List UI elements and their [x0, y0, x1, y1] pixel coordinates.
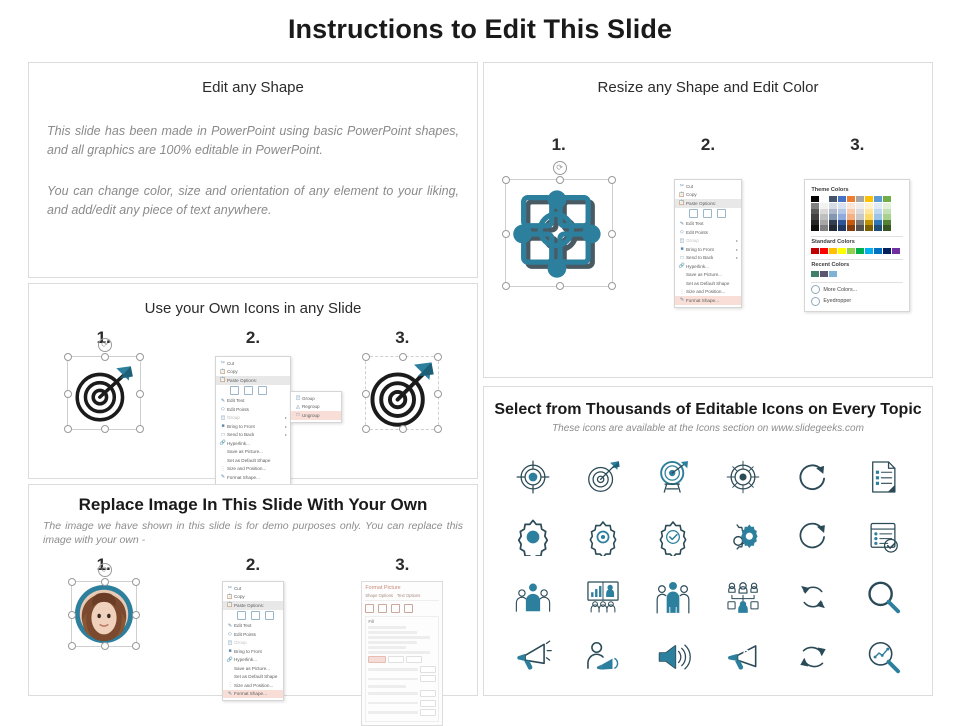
menu-item-save-as-picture[interactable]: Save as Picture...	[675, 271, 741, 280]
menu-item-format-shape[interactable]: ✎Format Shape...	[216, 473, 290, 482]
resize-handle[interactable]	[136, 353, 144, 361]
menu-item-save-as-picture[interactable]: Save as Picture...	[223, 664, 283, 673]
resize-handle[interactable]	[136, 425, 144, 433]
resize-handle[interactable]	[132, 578, 140, 586]
resize-handle[interactable]	[608, 176, 616, 184]
send-back-icon: □	[219, 432, 227, 438]
pane-field-row[interactable]	[368, 675, 436, 682]
color-swatch[interactable]	[883, 248, 891, 254]
icon-cell[interactable]	[568, 567, 638, 627]
resize-handle[interactable]	[434, 390, 442, 398]
resize-handle[interactable]	[608, 282, 616, 290]
pane-field-row[interactable]	[368, 709, 436, 716]
color-swatch-column[interactable]	[811, 203, 819, 231]
scissors-icon: ✂	[219, 360, 227, 366]
sync-arrows-icon	[794, 578, 832, 616]
color-swatch[interactable]	[811, 248, 819, 254]
menu-item-set-default-shape[interactable]: Set as Default Shape	[675, 279, 741, 288]
ungroup-icon: □	[294, 412, 302, 418]
bring-front-icon: ■	[219, 423, 227, 429]
edit-points-icon: ◇	[219, 406, 227, 412]
color-palette-popup[interactable]: Theme Colors Standard Colors Recent Colo…	[804, 179, 910, 312]
edit-points-icon: ◇	[226, 631, 234, 637]
color-swatch[interactable]	[865, 248, 873, 254]
color-swatch[interactable]	[874, 196, 882, 202]
recent-colors-row[interactable]	[811, 271, 903, 277]
resize-handle[interactable]	[64, 353, 72, 361]
color-swatch[interactable]	[829, 225, 837, 231]
copy-icon: 📋	[226, 594, 234, 600]
resize-handle[interactable]	[101, 578, 109, 586]
rotate-handle[interactable]: ⟳	[98, 563, 112, 577]
picture-icon[interactable]	[404, 604, 413, 613]
paste-picture-icon[interactable]	[251, 611, 260, 620]
pane-row	[368, 651, 429, 654]
menu-item-edit-points[interactable]: ◇Edit Points	[216, 405, 290, 414]
panel-title-replace-image: Replace Image In This Slide With Your Ow…	[29, 495, 477, 515]
paste-icon: 📋	[678, 200, 686, 206]
menu-item-hyperlink[interactable]: 🔗Hyperlink...	[223, 656, 283, 665]
group-icon: ◫	[226, 640, 234, 646]
color-swatch[interactable]	[811, 271, 819, 277]
menu-item-hyperlink[interactable]: 🔗Hyperlink...	[675, 262, 741, 271]
menu-item-format-picture[interactable]: ✎Format Shape...	[223, 690, 283, 699]
icon-cell[interactable]	[778, 507, 848, 567]
circular-arrow-icon	[794, 518, 832, 556]
copy-icon: 📋	[219, 369, 227, 375]
menu-item-paste-options[interactable]: 📋Paste Options:	[675, 199, 741, 208]
menu-item-paste-options[interactable]: 📋Paste Options:	[223, 601, 283, 610]
paste-keep-format-icon[interactable]	[689, 209, 698, 218]
resize-shape-step-numbers: 1. 2. 3.	[484, 135, 932, 155]
size-icon: ⋮	[678, 289, 686, 295]
menu-item-cut[interactable]: ✂Cut	[216, 359, 290, 368]
gear-filled-icon	[514, 518, 552, 556]
resize-handle[interactable]	[362, 425, 370, 433]
refresh-clockwise-icon	[794, 458, 832, 496]
format-icon: ✎	[678, 297, 686, 303]
pane-field-row[interactable]	[368, 666, 436, 673]
chevron-right-icon: ▸	[285, 424, 287, 429]
group-icon: ◫	[294, 395, 302, 401]
panel-title-edit-shape: Edit any Shape	[29, 79, 477, 96]
resize-handle[interactable]	[68, 642, 76, 650]
resize-handle[interactable]	[556, 176, 564, 184]
menu-item-edit-text[interactable]: ✎Edit Text	[216, 397, 290, 406]
selection-frame	[365, 356, 439, 430]
format-pane-section-label: Fill	[368, 619, 436, 624]
icon-cell[interactable]	[498, 507, 568, 567]
palette-icon	[811, 285, 820, 294]
page-title: Instructions to Edit This Slide	[0, 14, 960, 45]
pane-field-row[interactable]	[368, 700, 436, 707]
color-swatch[interactable]	[874, 225, 882, 231]
color-swatch[interactable]	[829, 248, 837, 254]
theme-colors-row[interactable]	[811, 196, 903, 202]
icon-cell[interactable]	[778, 447, 848, 507]
org-chart-team-icon	[724, 578, 762, 616]
rotate-handle[interactable]: ⟳	[553, 161, 567, 175]
circular-sync-icon	[794, 638, 832, 676]
menu-item-set-default-shape[interactable]: Set as Default Shape	[223, 673, 283, 682]
panel-edit-any-shape: Edit any Shape This slide has been made …	[28, 62, 478, 278]
paste-picture-icon[interactable]	[703, 209, 712, 218]
color-swatch-column[interactable]	[847, 203, 855, 231]
pane-row	[368, 646, 405, 649]
color-swatch[interactable]	[883, 225, 891, 231]
color-swatch-column[interactable]	[820, 203, 828, 231]
megaphone-icon	[514, 638, 552, 676]
resize-handle[interactable]	[502, 230, 510, 238]
color-swatch-column[interactable]	[874, 203, 882, 231]
resize-handle[interactable]	[502, 282, 510, 290]
menu-item-edit-points[interactable]: ◇Edit Points	[675, 228, 741, 237]
edit-points-icon: ◇	[678, 229, 686, 235]
color-swatch[interactable]	[838, 248, 846, 254]
color-swatch[interactable]	[820, 248, 828, 254]
color-swatch-column[interactable]	[856, 203, 864, 231]
menu-item-edit-text[interactable]: ✎Edit Text	[223, 622, 283, 631]
menu-item-cut[interactable]: ✂Cut	[675, 182, 741, 191]
resize-handle[interactable]	[556, 282, 564, 290]
step-number: 2.	[178, 328, 327, 348]
menu-item-format-shape[interactable]: ✎Format Shape...	[675, 296, 741, 305]
gear-check-icon	[654, 518, 692, 556]
edit-text-icon: ✎	[678, 221, 686, 227]
menu-item-size-position[interactable]: ⋮Size and Position...	[223, 681, 283, 690]
color-swatch[interactable]	[847, 196, 855, 202]
more-colors-button[interactable]: More Colors...	[811, 285, 903, 294]
format-icon: ✎	[219, 474, 227, 480]
icon-cell[interactable]	[708, 507, 778, 567]
menu-item-copy[interactable]: 📋Copy	[675, 191, 741, 200]
panel-resize-shape: Resize any Shape and Edit Color 1. 2. 3.…	[483, 62, 933, 378]
shape-context-menu[interactable]: ✂Cut 📋Copy 📋Paste Options: ✎Edit Text ◇E…	[674, 179, 742, 308]
color-dropdown[interactable]	[406, 656, 422, 663]
crosshair-target-icon	[514, 458, 552, 496]
screenshot-selected-portrait: ⟳	[29, 581, 178, 647]
pane-field-row[interactable]	[368, 690, 436, 697]
resize-handle[interactable]	[608, 230, 616, 238]
step-number: 3.	[783, 135, 932, 155]
icon-cell[interactable]	[708, 567, 778, 627]
slide-canvas: Instructions to Edit This Slide Edit any…	[0, 0, 960, 720]
icon-cell[interactable]	[708, 447, 778, 507]
menu-item-size-position[interactable]: ⋮Size and Position...	[216, 465, 290, 474]
bring-front-icon: ■	[226, 648, 234, 654]
menu-item-paste-options[interactable]: 📋Paste Options:	[216, 376, 290, 385]
icon-cell[interactable]	[568, 507, 638, 567]
theme-colors-tints[interactable]	[811, 203, 903, 231]
screenshot-selected-icon: ⟳	[29, 356, 178, 430]
format-pane-title: Format Picture	[365, 585, 439, 591]
submenu-item-regroup[interactable]: ◬Regroup	[291, 403, 341, 412]
color-dropdown[interactable]	[388, 656, 404, 663]
fill-icon[interactable]	[365, 604, 374, 613]
group-icon: ◫	[219, 415, 227, 421]
resize-handle[interactable]	[399, 425, 407, 433]
menu-item-copy[interactable]: 📋Copy	[216, 368, 290, 377]
own-icons-step-numbers: 1. 2. 3.	[29, 328, 477, 348]
format-icon: ✎	[226, 691, 234, 697]
color-swatch[interactable]	[838, 196, 846, 202]
resize-handle[interactable]	[132, 611, 140, 619]
selection-frame: ⟳	[67, 356, 141, 430]
paste-option-buttons[interactable]	[675, 208, 741, 220]
megaphone-percent-icon	[724, 638, 762, 676]
paste-option-buttons[interactable]	[223, 610, 283, 622]
icon-cell[interactable]	[778, 627, 848, 687]
color-swatch[interactable]	[883, 196, 891, 202]
eyedropper-button[interactable]: Eyedropper	[811, 297, 903, 306]
resize-shape-screenshots: ⟳	[484, 179, 932, 312]
value-field[interactable]	[420, 700, 436, 707]
context-menu[interactable]: ✂Cut 📋Copy 📋Paste Options: ✎Edit Text ◇E…	[215, 356, 291, 485]
submenu-item-group[interactable]: ◫Group	[291, 394, 341, 403]
menu-item-cut[interactable]: ✂Cut	[223, 584, 283, 593]
group-submenu[interactable]: ◫Group ◬Regroup □Ungroup	[290, 391, 342, 423]
format-picture-pane[interactable]: Format Picture Shape Options Text Option…	[361, 581, 443, 726]
menu-item-group[interactable]: ◫Group▸	[216, 414, 290, 423]
size-icon[interactable]	[391, 604, 400, 613]
step-number: 2.	[178, 555, 327, 575]
color-swatch[interactable]	[892, 248, 900, 254]
pane-row	[368, 631, 417, 634]
paste-keep-format-icon[interactable]	[237, 611, 246, 620]
menu-item-group[interactable]: ◫Group▸	[675, 237, 741, 246]
chevron-right-icon: ▸	[285, 415, 287, 420]
speaker-sound-icon	[654, 638, 692, 676]
icon-cell[interactable]	[848, 447, 918, 507]
value-field[interactable]	[420, 675, 436, 682]
icon-cell[interactable]	[568, 627, 638, 687]
chevron-right-icon: ▸	[736, 255, 738, 260]
icon-cell[interactable]	[498, 447, 568, 507]
color-swatch[interactable]	[847, 248, 855, 254]
panel-title-editable-icons: Select from Thousands of Editable Icons …	[484, 401, 932, 419]
own-icons-screenshots: ⟳	[29, 356, 477, 485]
standard-colors-row[interactable]	[811, 248, 903, 254]
resize-handle[interactable]	[101, 642, 109, 650]
copy-icon: 📋	[678, 192, 686, 198]
paste-text-icon[interactable]	[717, 209, 726, 218]
icon-cell[interactable]	[848, 627, 918, 687]
color-swatch-column[interactable]	[883, 203, 891, 231]
size-icon: ⋮	[219, 466, 227, 472]
gear-dot-icon	[584, 518, 622, 556]
step-number: 3.	[328, 328, 477, 348]
three-people-icon	[654, 578, 692, 616]
color-swatch[interactable]	[820, 196, 828, 202]
bring-front-icon: ■	[678, 246, 686, 252]
panel-title-resize-shape: Resize any Shape and Edit Color	[484, 79, 932, 96]
format-pane-tabs[interactable]: Shape Options Text Options	[365, 593, 439, 601]
step-number: 3.	[328, 555, 477, 575]
menu-item-group[interactable]: ◫Group	[223, 639, 283, 648]
resize-handle[interactable]	[132, 642, 140, 650]
icon-cell[interactable]	[638, 627, 708, 687]
menu-item-edit-points[interactable]: ◇Edit Points	[223, 630, 283, 639]
color-swatch[interactable]	[829, 271, 837, 277]
standard-colors-header: Standard Colors	[811, 239, 903, 245]
target-stand-icon	[654, 458, 692, 496]
screenshot-picture-context-menu: ✂Cut 📋Copy 📋Paste Options: ✎Edit Text ◇E…	[178, 581, 327, 701]
menu-item-send-to-back[interactable]: □Send to Back▸	[216, 431, 290, 440]
menu-item-size-position[interactable]: ⋮Size and Position...	[675, 288, 741, 297]
icon-cell[interactable]	[638, 447, 708, 507]
color-chip[interactable]	[368, 656, 386, 663]
panel-editable-icons: Select from Thousands of Editable Icons …	[483, 386, 933, 696]
icon-cell[interactable]	[498, 627, 568, 687]
magnifier-icon	[864, 578, 902, 616]
menu-item-bring-to-front[interactable]: ■Bring to Front▸	[216, 422, 290, 431]
edit-shape-paragraph-2: You can change color, size and orientati…	[47, 182, 459, 220]
icon-cell[interactable]	[498, 567, 568, 627]
color-swatch-column[interactable]	[838, 203, 846, 231]
menu-item-edit-text[interactable]: ✎Edit Text	[675, 220, 741, 229]
pane-color-row[interactable]	[368, 656, 436, 663]
color-swatch[interactable]	[829, 196, 837, 202]
resize-handle[interactable]	[502, 176, 510, 184]
color-swatch[interactable]	[811, 225, 819, 231]
screenshot-shape-context-menu: ✂Cut 📋Copy 📋Paste Options: ✎Edit Text ◇E…	[633, 179, 782, 308]
step-number: 1.	[484, 135, 633, 155]
paste-keep-format-icon[interactable]	[230, 386, 239, 395]
paste-option-buttons[interactable]	[216, 385, 290, 397]
menu-item-bring-to-front[interactable]: ■Bring to Front	[223, 647, 283, 656]
edit-text-icon: ✎	[219, 398, 227, 404]
icon-cell[interactable]	[848, 507, 918, 567]
selection-frame: ⟳	[71, 581, 137, 647]
value-field[interactable]	[420, 666, 436, 673]
color-swatch[interactable]	[865, 196, 873, 202]
send-back-icon: □	[678, 255, 686, 261]
color-swatch[interactable]	[865, 225, 873, 231]
submenu-item-ungroup[interactable]: □Ungroup	[291, 411, 341, 420]
recent-colors-header: Recent Colors	[811, 262, 903, 268]
icon-grid	[498, 447, 918, 687]
value-field[interactable]	[420, 709, 436, 716]
replace-image-screenshots: ⟳	[29, 581, 477, 726]
color-swatch[interactable]	[820, 225, 828, 231]
pane-row	[368, 636, 429, 639]
color-swatch[interactable]	[811, 196, 819, 202]
replace-image-step-numbers: 1. 2. 3.	[29, 555, 477, 575]
chevron-right-icon: ▸	[736, 238, 738, 243]
resize-handle[interactable]	[434, 425, 442, 433]
paste-icon: 📋	[226, 602, 234, 608]
pane-row	[368, 685, 405, 688]
link-icon: 🔗	[219, 440, 227, 446]
resize-handle[interactable]	[136, 390, 144, 398]
magnifier-chart-icon	[864, 638, 902, 676]
resize-handle[interactable]	[101, 425, 109, 433]
paste-icon: 📋	[219, 377, 227, 383]
chevron-right-icon: ▸	[736, 247, 738, 252]
radar-target-icon	[724, 458, 762, 496]
color-swatch[interactable]	[838, 225, 846, 231]
paste-picture-icon[interactable]	[244, 386, 253, 395]
icon-cell[interactable]	[568, 447, 638, 507]
value-field[interactable]	[420, 690, 436, 697]
color-swatch[interactable]	[856, 225, 864, 231]
resize-handle[interactable]	[68, 611, 76, 619]
menu-item-set-default-shape[interactable]: Set as Default Shape	[216, 456, 290, 465]
icon-cell[interactable]	[848, 567, 918, 627]
color-swatch-column[interactable]	[865, 203, 873, 231]
theme-colors-header: Theme Colors	[811, 187, 903, 193]
color-swatch[interactable]	[856, 248, 864, 254]
panel-replace-image: Replace Image In This Slide With Your Ow…	[28, 484, 478, 696]
menu-item-save-as-picture[interactable]: Save as Picture...	[216, 448, 290, 457]
editable-icons-subtitle: These icons are available at the Icons s…	[484, 423, 932, 434]
chevron-right-icon: ▸	[285, 432, 287, 437]
edit-text-icon: ✎	[226, 623, 234, 629]
group-icon: ◫	[678, 238, 686, 244]
screenshot-color-palette: Theme Colors Standard Colors Recent Colo…	[783, 179, 932, 312]
selection-frame: ⟳	[505, 179, 613, 287]
icon-cell[interactable]	[778, 567, 848, 627]
paste-text-icon[interactable]	[258, 386, 267, 395]
panel-own-icons: Use your Own Icons in any Slide 1. 2. 3.…	[28, 283, 478, 479]
replace-image-subtitle: The image we have shown in this slide is…	[43, 519, 463, 547]
color-swatch[interactable]	[874, 248, 882, 254]
color-swatch[interactable]	[820, 271, 828, 277]
screenshot-context-menu: ✂Cut 📋Copy 📋Paste Options: ✎Edit Text ◇E…	[178, 356, 327, 485]
menu-item-hyperlink[interactable]: 🔗Hyperlink...	[216, 439, 290, 448]
checklist-document-icon	[864, 458, 902, 496]
person-megaphone-icon	[584, 638, 622, 676]
resize-handle[interactable]	[101, 353, 109, 361]
target-arrow-icon	[584, 458, 622, 496]
color-swatch-column[interactable]	[829, 203, 837, 231]
tab-shape-options[interactable]: Shape Options	[365, 593, 393, 598]
menu-item-send-to-back[interactable]: □Send to Back▸	[675, 254, 741, 263]
resize-handle[interactable]	[434, 353, 442, 361]
resize-handle[interactable]	[64, 425, 72, 433]
link-icon: 🔗	[226, 657, 234, 663]
resize-handle[interactable]	[64, 390, 72, 398]
icon-cell[interactable]	[638, 507, 708, 567]
color-swatch[interactable]	[847, 225, 855, 231]
screenshot-edited-icon	[328, 356, 477, 430]
screenshot-selected-shape: ⟳	[484, 179, 633, 287]
panel-title-own-icons: Use your Own Icons in any Slide	[29, 300, 477, 317]
effects-icon[interactable]	[378, 604, 387, 613]
menu-item-bring-to-front[interactable]: ■Bring to Front▸	[675, 245, 741, 254]
color-swatch[interactable]	[856, 196, 864, 202]
picture-context-menu[interactable]: ✂Cut 📋Copy 📋Paste Options: ✎Edit Text ◇E…	[222, 581, 284, 701]
icon-cell[interactable]	[708, 627, 778, 687]
screenshot-format-pane: Format Picture Shape Options Text Option…	[328, 581, 477, 726]
scissors-icon: ✂	[226, 585, 234, 591]
resize-handle[interactable]	[68, 578, 76, 586]
team-group-icon	[514, 578, 552, 616]
regroup-icon: ◬	[294, 404, 302, 410]
rotate-handle[interactable]: ⟳	[98, 338, 112, 352]
step-number: 2.	[633, 135, 782, 155]
icon-cell[interactable]	[638, 567, 708, 627]
format-pane-icon-row[interactable]	[365, 604, 439, 613]
tab-text-options[interactable]: Text Options	[397, 593, 420, 598]
presentation-meeting-icon	[584, 578, 622, 616]
menu-item-copy[interactable]: 📋Copy	[223, 593, 283, 602]
size-icon: ⋮	[226, 682, 234, 688]
pane-row	[368, 626, 405, 629]
link-icon: 🔗	[678, 263, 686, 269]
paste-text-icon[interactable]	[265, 611, 274, 620]
double-gear-icon	[724, 518, 762, 556]
